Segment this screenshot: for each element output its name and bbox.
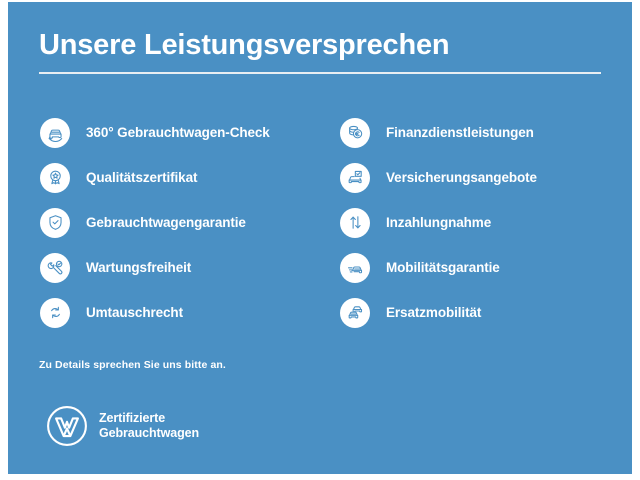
car-motion-lines-icon	[340, 253, 370, 283]
feature-label: Versicherungsangebote	[386, 170, 537, 185]
wrench-check-icon	[40, 253, 70, 283]
feature-item: Versicherungsangebote	[331, 155, 631, 200]
brand-lockup: Zertifizierte Gebrauchtwagen	[46, 405, 199, 447]
feature-item: Ersatzmobilität	[331, 290, 631, 335]
medal-rosette-icon	[40, 163, 70, 193]
feature-item: Finanzdienstleistungen	[331, 110, 631, 155]
feature-item: Umtauschrecht	[31, 290, 331, 335]
car-360-check-icon	[40, 118, 70, 148]
page-title: Unsere Leistungsversprechen	[39, 28, 601, 62]
brand-text: Zertifizierte Gebrauchtwagen	[99, 411, 199, 441]
car-document-check-icon	[340, 163, 370, 193]
vw-roundel-logo	[46, 405, 88, 447]
exchange-arrows-circular-icon	[40, 298, 70, 328]
shield-check-icon	[40, 208, 70, 238]
feature-item: Qualitätszertifikat	[31, 155, 331, 200]
feature-item: Wartungsfreiheit	[31, 245, 331, 290]
feature-label: Wartungsfreiheit	[86, 260, 191, 275]
feature-list: 360° Gebrauchtwagen-Check Qualitätszerti…	[8, 110, 632, 335]
feature-label: 360° Gebrauchtwagen-Check	[86, 125, 270, 140]
feature-label: Umtauschrecht	[86, 305, 183, 320]
brand-line-2: Gebrauchtwagen	[99, 426, 199, 441]
feature-label: Gebrauchtwagengarantie	[86, 215, 246, 230]
feature-label: Finanzdienstleistungen	[386, 125, 534, 140]
title-divider	[39, 72, 601, 74]
two-cars-icon	[340, 298, 370, 328]
coins-euro-icon	[340, 118, 370, 148]
feature-label: Mobilitätsgarantie	[386, 260, 500, 275]
footer-note: Zu Details sprechen Sie uns bitte an.	[39, 359, 226, 371]
feature-label: Inzahlungnahme	[386, 215, 491, 230]
feature-label: Ersatzmobilität	[386, 305, 481, 320]
feature-item: Gebrauchtwagengarantie	[31, 200, 331, 245]
feature-item: Inzahlungnahme	[331, 200, 631, 245]
arrows-up-down-icon	[340, 208, 370, 238]
feature-column-right: Finanzdienstleistungen Versicherungsange…	[331, 110, 631, 335]
feature-label: Qualitätszertifikat	[86, 170, 197, 185]
brand-line-1: Zertifizierte	[99, 411, 199, 426]
feature-column-left: 360° Gebrauchtwagen-Check Qualitätszerti…	[31, 110, 331, 335]
feature-item: 360° Gebrauchtwagen-Check	[31, 110, 331, 155]
title-block: Unsere Leistungsversprechen	[39, 28, 601, 74]
feature-item: Mobilitätsgarantie	[331, 245, 631, 290]
promo-poster: Unsere Leistungsversprechen 360° Gebrauc…	[8, 2, 632, 474]
